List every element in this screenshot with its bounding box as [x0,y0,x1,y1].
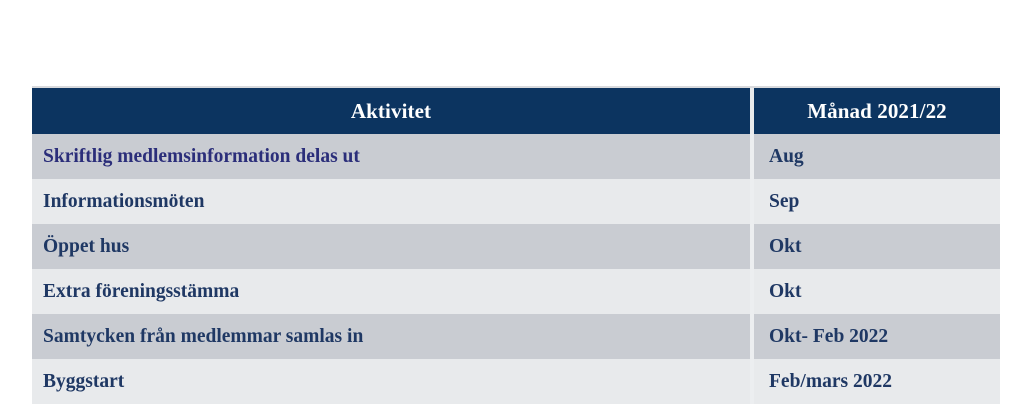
table-row: Informationsmöten Sep [32,179,1000,224]
table-row: Samtycken från medlemmar samlas in Okt- … [32,314,1000,359]
cell-month: Feb/mars 2022 [754,359,1000,404]
cell-activity: Byggstart [32,359,750,404]
table-header: Aktivitet Månad 2021/22 [32,87,1000,134]
table-row: Skriftlig medlemsinformation delas ut Au… [32,134,1000,179]
activity-schedule-table: Aktivitet Månad 2021/22 Skriftlig medlem… [32,86,1000,404]
cell-activity: Öppet hus [32,224,750,269]
cell-activity: Skriftlig medlemsinformation delas ut [32,134,750,179]
column-header-month: Månad 2021/22 [754,87,1000,134]
table-row: Byggstart Feb/mars 2022 [32,359,1000,404]
table-row: Öppet hus Okt [32,224,1000,269]
cell-activity: Samtycken från medlemmar samlas in [32,314,750,359]
column-header-activity: Aktivitet [32,87,750,134]
cell-month: Aug [754,134,1000,179]
table-body: Skriftlig medlemsinformation delas ut Au… [32,134,1000,404]
cell-month: Okt [754,224,1000,269]
cell-activity: Informationsmöten [32,179,750,224]
cell-month: Okt [754,269,1000,314]
cell-month: Sep [754,179,1000,224]
table-header-row: Aktivitet Månad 2021/22 [32,87,1000,134]
cell-activity: Extra föreningsstämma [32,269,750,314]
cell-month: Okt- Feb 2022 [754,314,1000,359]
table-row: Extra föreningsstämma Okt [32,269,1000,314]
page-root: Aktivitet Månad 2021/22 Skriftlig medlem… [0,0,1024,414]
